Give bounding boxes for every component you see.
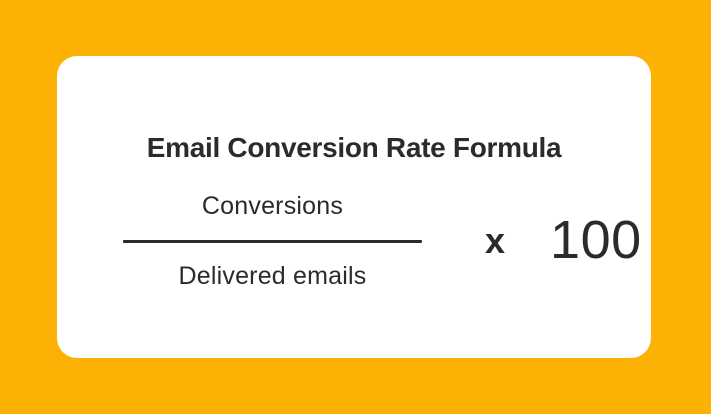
- fraction-numerator: Conversions: [202, 194, 343, 219]
- fraction: Conversions Delivered emails: [101, 194, 444, 289]
- page-title: Email Conversion Rate Formula: [57, 134, 651, 162]
- multiplier-value: 100: [550, 213, 642, 267]
- multiply-operator-icon: x: [485, 223, 505, 259]
- formula-card: Email Conversion Rate Formula Conversion…: [57, 56, 651, 358]
- infographic-canvas: Email Conversion Rate Formula Conversion…: [0, 0, 711, 414]
- formula-expression: Conversions Delivered emails x 100: [57, 161, 651, 321]
- fraction-denominator: Delivered emails: [179, 264, 367, 289]
- fraction-bar-divider: [123, 240, 422, 243]
